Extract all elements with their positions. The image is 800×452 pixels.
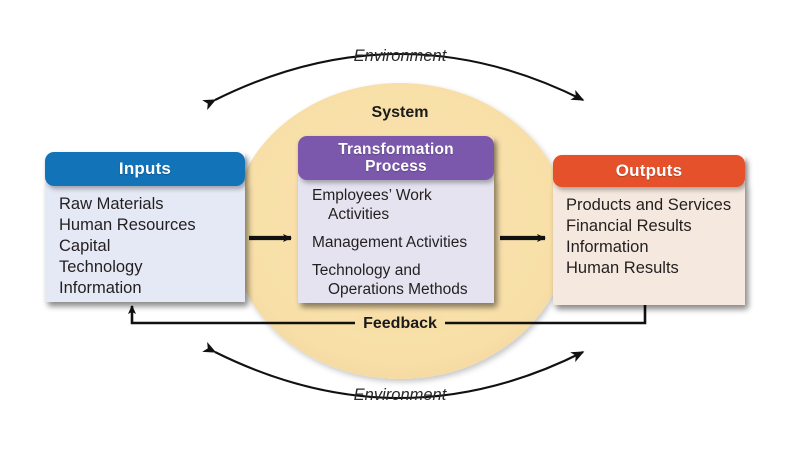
transformation-process-body: Employees’ Work Activities Management Ac… xyxy=(298,176,494,303)
list-item: Management Activities xyxy=(312,233,494,252)
list-item: Employees’ Work Activities xyxy=(312,186,494,224)
outputs-body: Products and Services Financial Results … xyxy=(553,183,745,305)
outputs-header: Outputs xyxy=(553,155,745,187)
environment-bottom-label: Environment xyxy=(0,386,800,405)
list-item: Technology xyxy=(59,257,245,278)
list-item: Raw Materials xyxy=(59,194,245,215)
diagram-canvas: Environment System Feedback Environment … xyxy=(0,0,800,452)
environment-top-label: Environment xyxy=(0,47,800,66)
inputs-list: Raw Materials Human Resources Capital Te… xyxy=(59,194,245,299)
list-item: Information xyxy=(59,278,245,299)
list-item: Financial Results xyxy=(566,216,745,237)
outputs-card[interactable]: Outputs Products and Services Financial … xyxy=(553,155,745,305)
inputs-card[interactable]: Inputs Raw Materials Human Resources Cap… xyxy=(45,152,245,302)
system-label: System xyxy=(0,104,800,122)
transformation-title-line2: Process xyxy=(365,158,427,175)
feedback-label: Feedback xyxy=(0,315,800,333)
list-item: Capital xyxy=(59,236,245,257)
list-item: Information xyxy=(566,237,745,258)
inputs-header: Inputs xyxy=(45,152,245,186)
inputs-body: Raw Materials Human Resources Capital Te… xyxy=(45,182,245,302)
transformation-title-line1: Transformation xyxy=(338,141,454,158)
transformation-list: Employees’ Work Activities Management Ac… xyxy=(312,186,494,299)
transformation-process-header: Transformation Process xyxy=(298,136,494,180)
list-item: Human Results xyxy=(566,258,745,279)
transformation-process-card[interactable]: Transformation Process Employees’ Work A… xyxy=(298,136,494,303)
feedback-label-text: Feedback xyxy=(355,315,445,332)
outputs-list: Products and Services Financial Results … xyxy=(566,195,745,279)
list-item: Technology and Operations Methods xyxy=(312,261,494,299)
list-item: Products and Services xyxy=(566,195,745,216)
list-item: Human Resources xyxy=(59,215,245,236)
